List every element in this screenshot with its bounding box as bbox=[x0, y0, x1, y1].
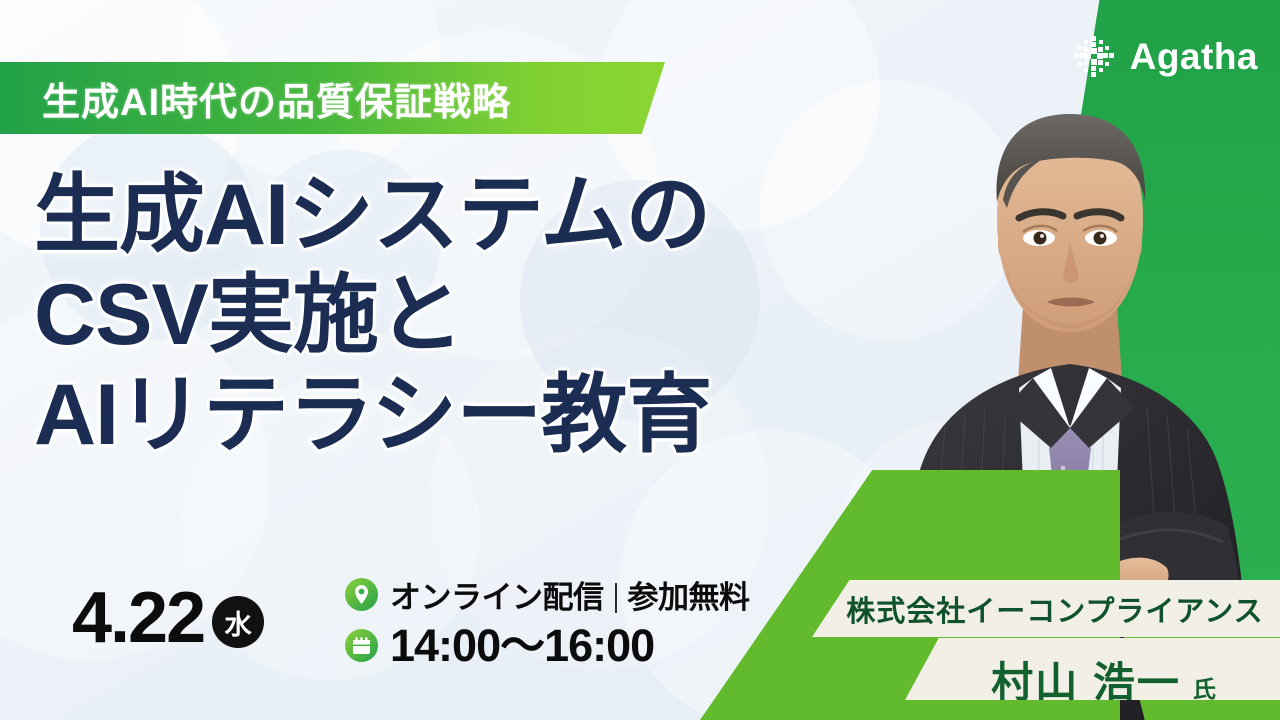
calendar-icon bbox=[345, 629, 378, 662]
tagline-text: 生成AI時代の品質保証戦略 bbox=[42, 71, 511, 126]
dot-matrix-icon bbox=[1072, 34, 1116, 78]
fee-label: 参加無料 bbox=[628, 580, 750, 615]
speaker-honorific: 氏 bbox=[1193, 670, 1216, 704]
event-date: 4.22 bbox=[72, 582, 204, 654]
event-time: 14:00〜16:00 bbox=[390, 623, 654, 668]
divider bbox=[615, 583, 617, 613]
page-title: 生成AIシステムの CSV実施と AIリテラシー教育 bbox=[34, 166, 964, 465]
venue-label: オンライン配信 bbox=[390, 580, 604, 615]
speaker-name-plate: 村山 浩一 氏 bbox=[905, 638, 1280, 700]
event-info-block: オンライン配信参加無料 14:00〜16:00 bbox=[345, 572, 750, 668]
time-row: 14:00〜16:00 bbox=[345, 623, 750, 668]
agatha-wordmark: Agatha bbox=[1130, 38, 1258, 75]
venue-row: オンライン配信参加無料 bbox=[345, 572, 750, 617]
location-pin-icon bbox=[345, 578, 378, 611]
speaker-company-plate: 株式会社イーコンプライアンス bbox=[812, 580, 1280, 637]
webinar-banner: Agatha 生成AI時代の品質保証戦略 生成AIシステムの CSV実施と AI… bbox=[0, 0, 1280, 720]
agatha-logo[interactable]: Agatha bbox=[1072, 34, 1258, 78]
title-line-3: AIリテラシー教育 bbox=[34, 366, 964, 466]
weekday-badge: 水 bbox=[212, 596, 264, 648]
speaker-company: 株式会社イーコンプライアンス bbox=[846, 588, 1263, 630]
event-date-block: 4.22 水 bbox=[72, 582, 264, 654]
title-line-2: CSV実施と bbox=[34, 266, 964, 366]
venue-and-fee: オンライン配信参加無料 bbox=[390, 572, 750, 617]
title-line-1: 生成AIシステムの bbox=[34, 166, 964, 266]
tagline-banner: 生成AI時代の品質保証戦略 bbox=[0, 62, 665, 134]
